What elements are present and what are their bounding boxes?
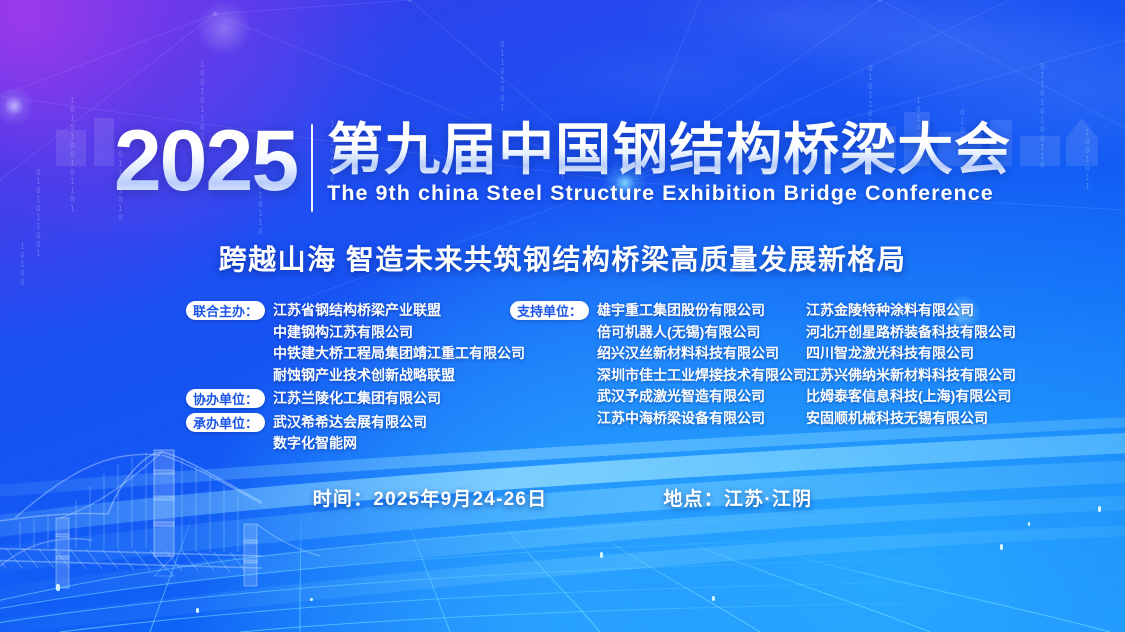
list-item: 耐蚀钢产业技术创新战略联盟	[273, 365, 525, 387]
list-item: 中建钢构江苏有限公司	[273, 322, 525, 344]
list-item: 河北开创星路桥装备科技有限公司	[806, 322, 1106, 344]
list-item: 江苏兰陵化工集团有限公司	[273, 388, 441, 410]
label-supporter: 支持单位：	[510, 301, 589, 320]
supporters-middle-column: 支持单位： 雄宇重工集团股份有限公司 倍可机器人(无锡)有限公司 绍兴汉丝新材料…	[510, 300, 810, 429]
list-item: 比姆泰客信息科技(上海)有限公司	[806, 386, 1106, 408]
event-info-footer: 时间：2025年9月24-26日 地点：江苏·江阴	[0, 484, 1125, 511]
list-item: 江苏中海桥梁设备有限公司	[597, 408, 807, 430]
list-item: 四川智龙激光科技有限公司	[806, 343, 1106, 365]
label-assistant-organizer: 协办单位：	[186, 389, 265, 408]
title-divider	[311, 124, 313, 212]
supporter-entries: 雄宇重工集团股份有限公司 倍可机器人(无锡)有限公司 绍兴汉丝新材料科技有限公司…	[597, 300, 807, 429]
label-undertaker: 承办单位：	[186, 413, 265, 432]
organizers-left-column: 联合主办： 江苏省钢结构桥梁产业联盟 中建钢构江苏有限公司 中铁建大桥工程局集团…	[186, 300, 516, 455]
undertaker-entries: 武汉希希达会展有限公司 数字化智能网	[273, 412, 427, 455]
supporters-right-column: 江苏金陵特种涂料有限公司 河北开创星路桥装备科技有限公司 四川智龙激光科技有限公…	[806, 300, 1106, 429]
org-group-undertaker: 承办单位： 武汉希希达会展有限公司 数字化智能网	[186, 412, 516, 455]
list-item: 数字化智能网	[273, 433, 427, 455]
list-item: 安固顺机械科技无锡有限公司	[806, 408, 1106, 430]
conference-title-cn: 第九届中国钢结构桥梁大会	[327, 120, 1011, 179]
event-date: 时间：2025年9月24-26日	[313, 484, 548, 511]
title-block: 2025 第九届中国钢结构桥梁大会 The 9th china Steel St…	[0, 120, 1125, 212]
event-location: 地点：江苏·江阴	[663, 484, 812, 511]
list-item: 倍可机器人(无锡)有限公司	[597, 322, 807, 344]
assistant-organizer-entries: 江苏兰陵化工集团有限公司	[273, 388, 441, 410]
list-item: 深圳市佳士工业焊接技术有限公司	[597, 365, 807, 387]
org-group-assistant: 协办单位： 江苏兰陵化工集团有限公司	[186, 388, 516, 410]
supporter-entries-continued: 江苏金陵特种涂料有限公司 河北开创星路桥装备科技有限公司 四川智龙激光科技有限公…	[806, 300, 1106, 429]
conference-tagline: 跨越山海 智造未来共筑钢结构桥梁高质量发展新格局	[0, 238, 1125, 278]
year-2025: 2025	[114, 120, 311, 203]
list-item: 雄宇重工集团股份有限公司	[597, 300, 807, 322]
list-item: 武汉希希达会展有限公司	[273, 412, 427, 434]
list-item: 绍兴汉丝新材料科技有限公司	[597, 343, 807, 365]
list-item: 江苏兴佛纳米新材料科技有限公司	[806, 365, 1106, 387]
label-coorganizer: 联合主办：	[186, 301, 265, 320]
org-group-supporter: 支持单位： 雄宇重工集团股份有限公司 倍可机器人(无锡)有限公司 绍兴汉丝新材料…	[510, 300, 810, 429]
conference-title-en: The 9th china Steel Structure Exhibition…	[327, 181, 1011, 206]
list-item: 江苏金陵特种涂料有限公司	[806, 300, 1106, 322]
list-item: 江苏省钢结构桥梁产业联盟	[273, 300, 525, 322]
list-item: 武汉予成激光智造有限公司	[597, 386, 807, 408]
conference-banner: 0 1 0 1 0 1 1 0 0 1 1 0 1 0 1 0 0 1 0 1 …	[0, 0, 1125, 632]
org-group-coorganizer: 联合主办： 江苏省钢结构桥梁产业联盟 中建钢构江苏有限公司 中铁建大桥工程局集团…	[186, 300, 516, 386]
organizations-section: 联合主办： 江苏省钢结构桥梁产业联盟 中建钢构江苏有限公司 中铁建大桥工程局集团…	[0, 300, 1125, 446]
list-item: 中铁建大桥工程局集团靖江重工有限公司	[273, 343, 525, 365]
coorganizer-entries: 江苏省钢结构桥梁产业联盟 中建钢构江苏有限公司 中铁建大桥工程局集团靖江重工有限…	[273, 300, 525, 386]
